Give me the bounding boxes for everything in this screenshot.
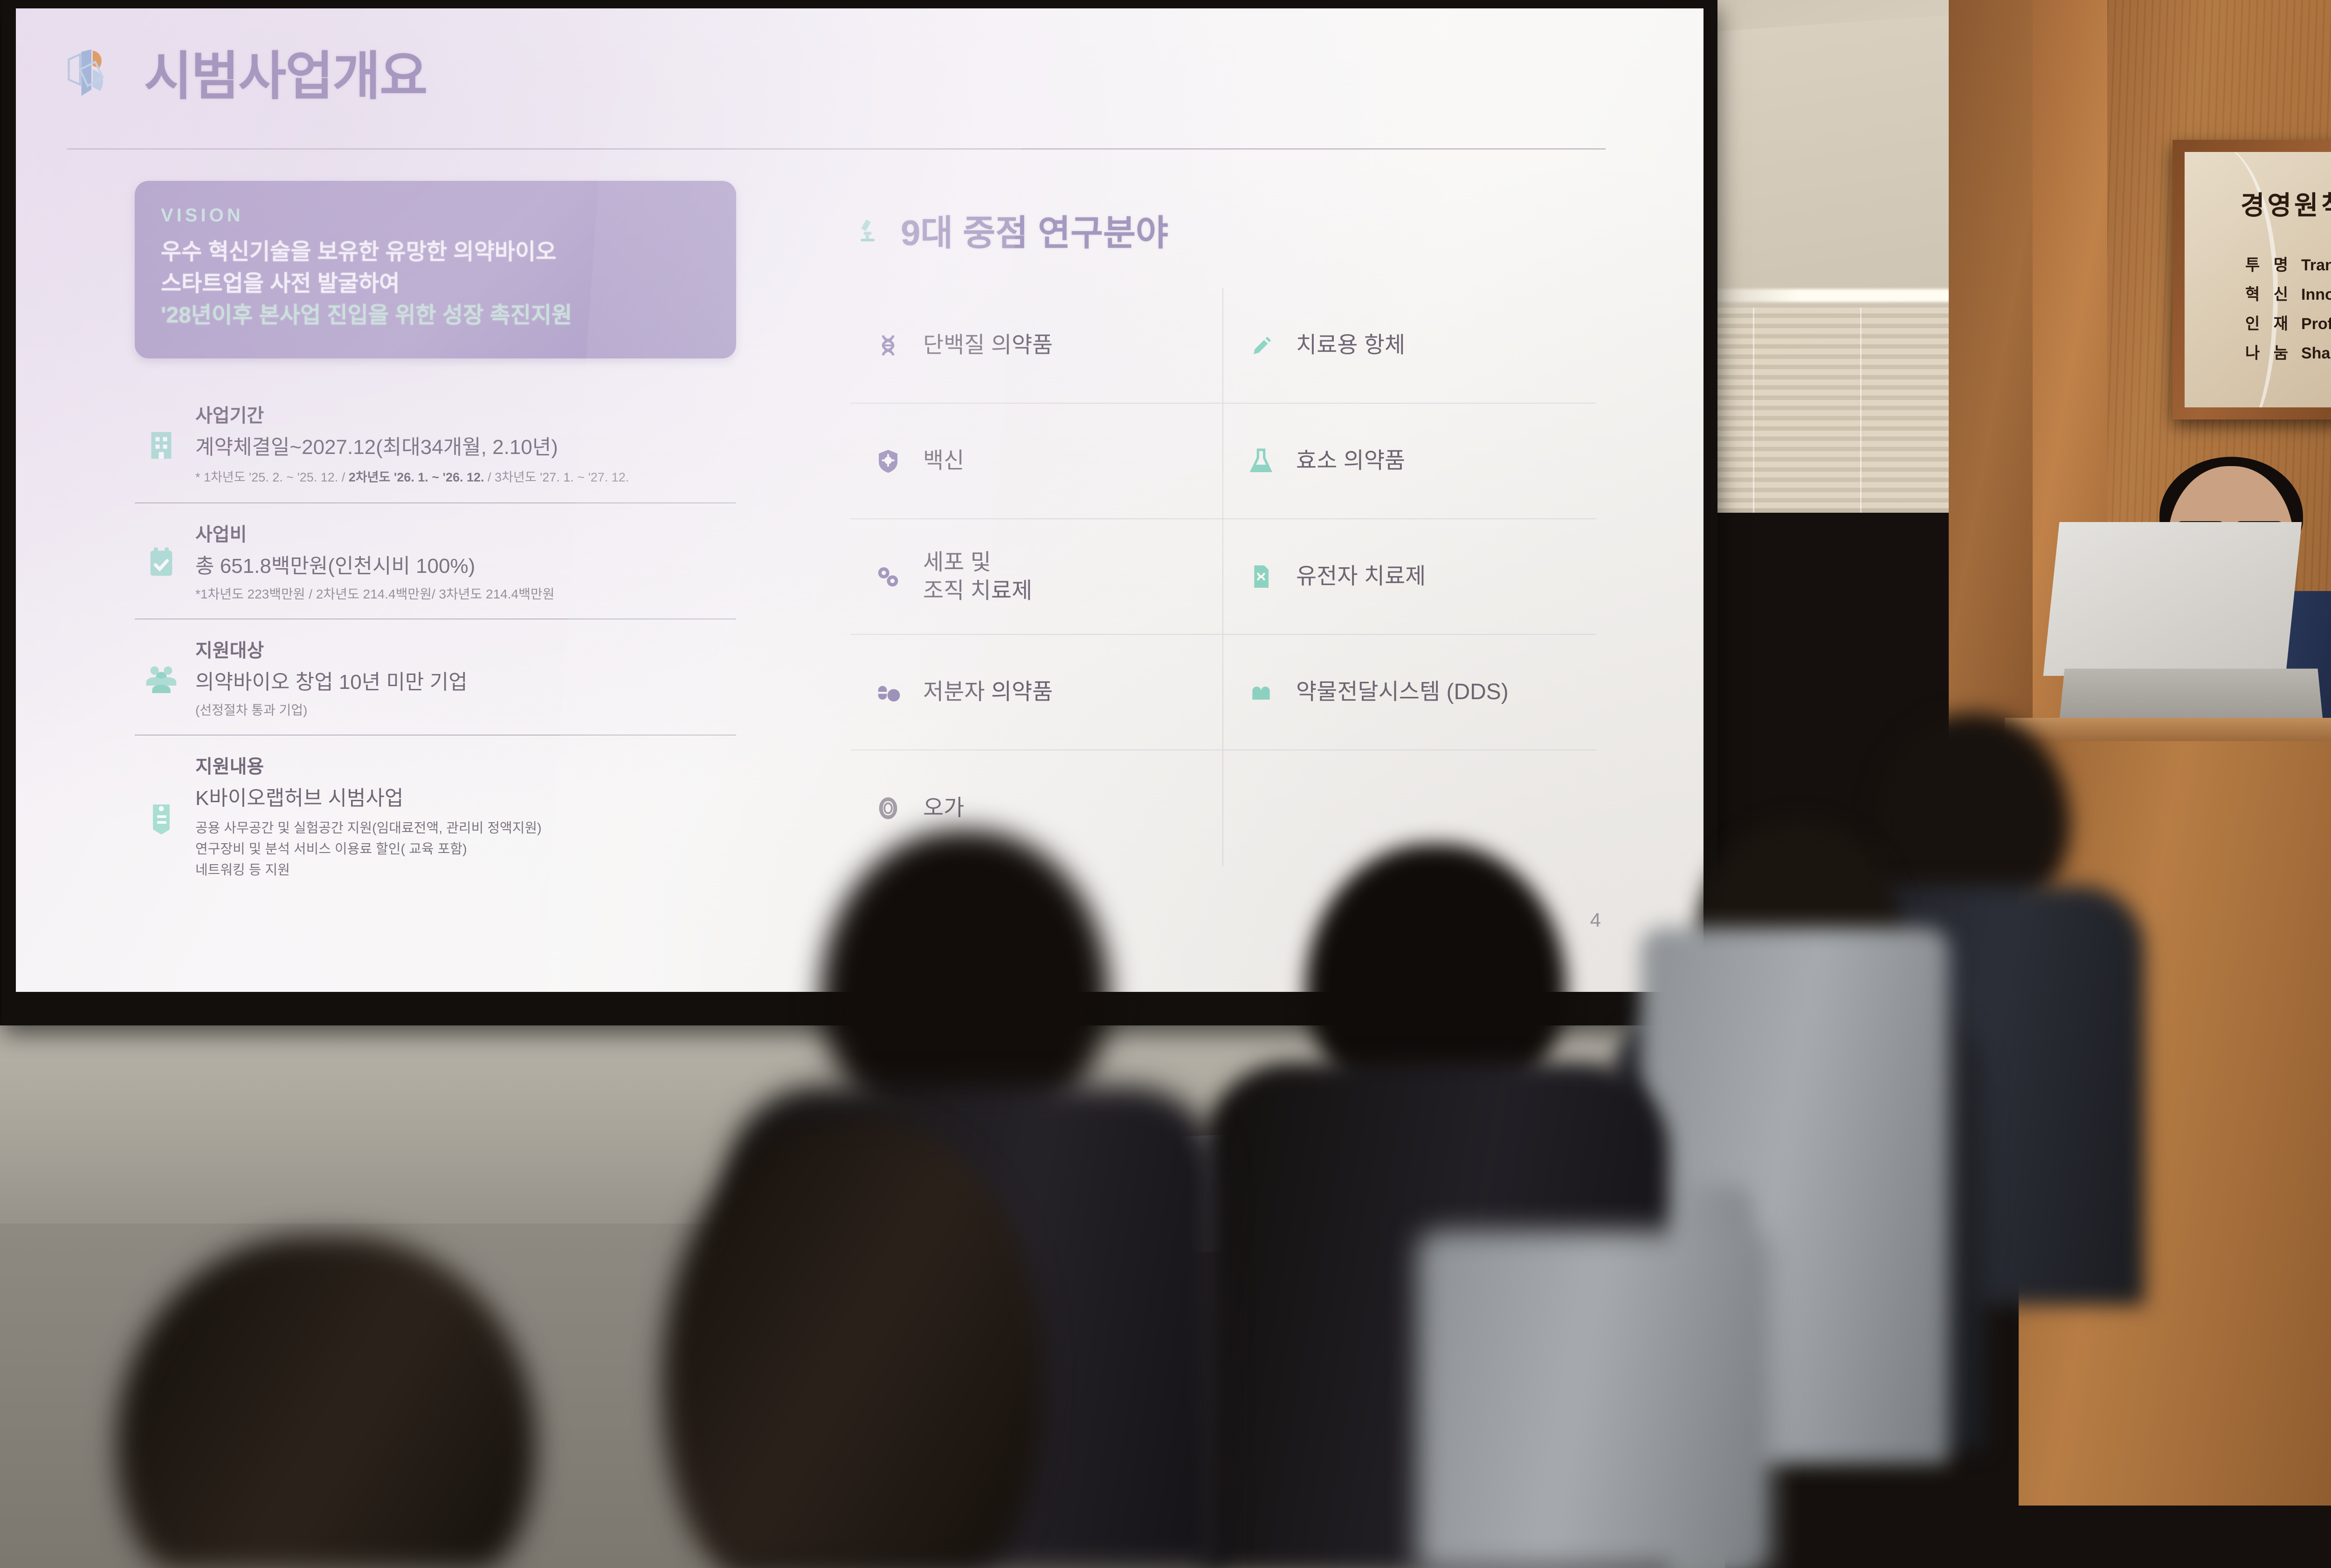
info-mini: *1차년도 223백만원 / 2차년도 214.4백만원/ 3차년도 214.4… xyxy=(195,584,736,603)
wall-sign-en: Innov xyxy=(2301,286,2331,304)
conference-room-photo: 경영원칙 투 명 Trans 혁 신 Innov 인 재 Profe 나 눔 S… xyxy=(0,0,2331,1568)
shield-virus-icon xyxy=(871,444,905,478)
research-item-label: 약물전달시스템 (DDS) xyxy=(1296,678,1509,706)
research-item-antibody: 치료용 항체 xyxy=(1223,288,1596,404)
info-lines: 공용 사무공간 및 실험공간 지원(임대료전액, 관리비 정액지원) 연구장비 … xyxy=(195,818,736,881)
research-heading: 9대 중점 연구분야 xyxy=(850,204,1596,255)
slide-header: 시범사업개요 xyxy=(62,34,427,110)
research-item-label: 백신 xyxy=(923,447,964,475)
info-main: K바이오랩허브 시범사업 xyxy=(195,785,736,812)
info-item-budget: 사업비 총 651.8백만원(인천시비 100%) *1차년도 223백만원 /… xyxy=(135,502,736,619)
info-item-support: 지원내용 K바이오랩허브 시범사업 공용 사무공간 및 실험공간 지원(임대료전… xyxy=(135,735,736,897)
clipboard-tag-icon xyxy=(141,796,181,836)
research-item-enzyme-drug: 효소 의약품 xyxy=(1223,404,1596,519)
gene-file-icon xyxy=(1244,559,1278,594)
info-item-target: 지원대상 의약바이오 창업 10년 미만 기업 (선정절차 통과 기업) xyxy=(135,619,736,735)
research-item-protein-drug: 단백질 의약품 xyxy=(850,288,1223,404)
info-title: 사업비 xyxy=(195,519,736,546)
laptop-lid xyxy=(2043,522,2302,676)
info-sub-prefix: * 1차년도 '25. 2. ~ '25. 12. / xyxy=(195,470,349,484)
wall-sign-en: Shari xyxy=(2301,344,2331,363)
wall-sign-ko: 투 명 xyxy=(2245,252,2301,275)
research-item-vaccine: 백신 xyxy=(850,404,1223,519)
vision-box: VISION 우수 혁신기술을 보유한 유망한 의약바이오 스타트업을 사전 발… xyxy=(135,181,736,358)
info-sub-suffix: / 3차년도 '27. 1. ~ '27. 12. xyxy=(484,470,629,484)
slide-title: 시범사업개요 xyxy=(144,34,427,110)
research-item-label: 단백질 의약품 xyxy=(923,331,1053,359)
vision-label: VISION xyxy=(161,205,710,226)
blind-cord xyxy=(1753,308,1754,513)
research-item-label: 치료용 항체 xyxy=(1296,331,1405,359)
wall-sign-rows: 투 명 Trans 혁 신 Innov 인 재 Profe 나 눔 Shari xyxy=(2245,252,2331,370)
wall-sign-row: 나 눔 Shari xyxy=(2245,340,2331,363)
wall-sign-en: Trans xyxy=(2301,256,2331,275)
slide-right-column: 9대 중점 연구분야 단백질 의약품 xyxy=(850,204,1596,866)
research-item-label: 세포 및 조직 치료제 xyxy=(923,548,1032,605)
info-sub: * 1차년도 '25. 2. ~ '25. 12. / 2차년도 '26. 1.… xyxy=(195,468,736,487)
research-heading-title: 9대 중점 연구분야 xyxy=(901,204,1168,255)
cells-icon xyxy=(871,559,905,594)
syringe-icon xyxy=(1244,328,1278,363)
info-mini: (선정절차 통과 기업) xyxy=(195,700,736,719)
info-line: 공용 사무공간 및 실험공간 지원(임대료전액, 관리비 정액지원) xyxy=(195,818,736,839)
info-title: 지원내용 xyxy=(195,751,736,778)
wall-wood-panel xyxy=(1949,0,2037,820)
info-main: 계약체결일~2027.12(최대34개월, 2.10년) xyxy=(195,434,736,461)
info-main: 총 651.8백만원(인천시비 100%) xyxy=(195,553,736,579)
info-list: 사업기간 계약체결일~2027.12(최대34개월, 2.10년) * 1차년도… xyxy=(135,385,736,897)
k-biolab-hub-logo xyxy=(62,41,125,103)
calendar-check-icon xyxy=(141,541,181,581)
vision-line-1: 우수 혁신기술을 보유한 유망한 의약바이오 xyxy=(161,236,710,268)
microscope-icon xyxy=(850,213,885,247)
info-title: 지원대상 xyxy=(195,635,736,662)
wall-sign-frame: 경영원칙 투 명 Trans 혁 신 Innov 인 재 Profe 나 눔 S… xyxy=(2172,140,2331,420)
building-icon xyxy=(141,424,181,464)
info-main: 의약바이오 창업 10년 미만 기업 xyxy=(195,669,736,695)
slide-left-column: VISION 우수 혁신기술을 보유한 유망한 의약바이오 스타트업을 사전 발… xyxy=(135,181,736,897)
wall-sign-ko: 인 재 xyxy=(2245,311,2301,334)
research-item-label: 효소 의약품 xyxy=(1296,447,1405,475)
people-icon xyxy=(141,657,181,697)
flask-icon xyxy=(1244,444,1278,478)
research-item-label: 저분자 의약품 xyxy=(923,678,1053,706)
research-item-dds: 약물전달시스템 (DDS) xyxy=(1223,635,1596,750)
vision-line-2: 스타트업을 사전 발굴하여 xyxy=(161,268,710,300)
audience-chair xyxy=(1417,1231,1772,1568)
slide-title-divider xyxy=(67,148,1606,150)
info-line: 네트워킹 등 지원 xyxy=(195,860,736,881)
research-item-gene-therapy: 유전자 치료제 xyxy=(1223,519,1596,635)
info-item-project-period: 사업기간 계약체결일~2027.12(최대34개월, 2.10년) * 1차년도… xyxy=(135,385,736,502)
pills-icon xyxy=(871,675,905,709)
info-title: 사업기간 xyxy=(195,400,736,427)
wall-sign-title: 경영원칙 xyxy=(2241,185,2331,222)
info-line: 연구장비 및 분석 서비스 이용료 할인( 교육 포함) xyxy=(195,839,736,860)
wall-sign-en: Profe xyxy=(2301,315,2331,333)
info-sub-bold: 2차년도 '26. 1. ~ '26. 12. xyxy=(349,470,484,484)
wall-sign-row: 투 명 Trans xyxy=(2245,252,2331,275)
research-item-label: 오가 xyxy=(923,794,964,822)
wall-sign-ko: 나 눔 xyxy=(2245,340,2301,363)
blind-cord xyxy=(1860,308,1862,513)
wall-sign-row: 인 재 Profe xyxy=(2245,311,2331,334)
wall-sign-row: 혁 신 Innov xyxy=(2245,282,2331,304)
research-item-cell-tissue: 세포 및 조직 치료제 xyxy=(850,519,1223,635)
wall-sign-ko: 혁 신 xyxy=(2245,282,2301,304)
research-item-label: 유전자 치료제 xyxy=(1296,562,1426,591)
organoid-icon xyxy=(871,791,905,825)
wall-sign-face: 경영원칙 투 명 Trans 혁 신 Innov 인 재 Profe 나 눔 S… xyxy=(2185,152,2331,407)
dds-icon xyxy=(1244,675,1278,709)
slide-page-number: 4 xyxy=(1590,909,1601,931)
research-item-small-molecule: 저분자 의약품 xyxy=(850,635,1223,750)
research-grid: 단백질 의약품 치료용 항체 xyxy=(850,288,1596,866)
vision-line-3: '28년이후 본사업 진입을 위한 성장 촉진지원 xyxy=(161,300,710,331)
dna-icon xyxy=(871,328,905,363)
